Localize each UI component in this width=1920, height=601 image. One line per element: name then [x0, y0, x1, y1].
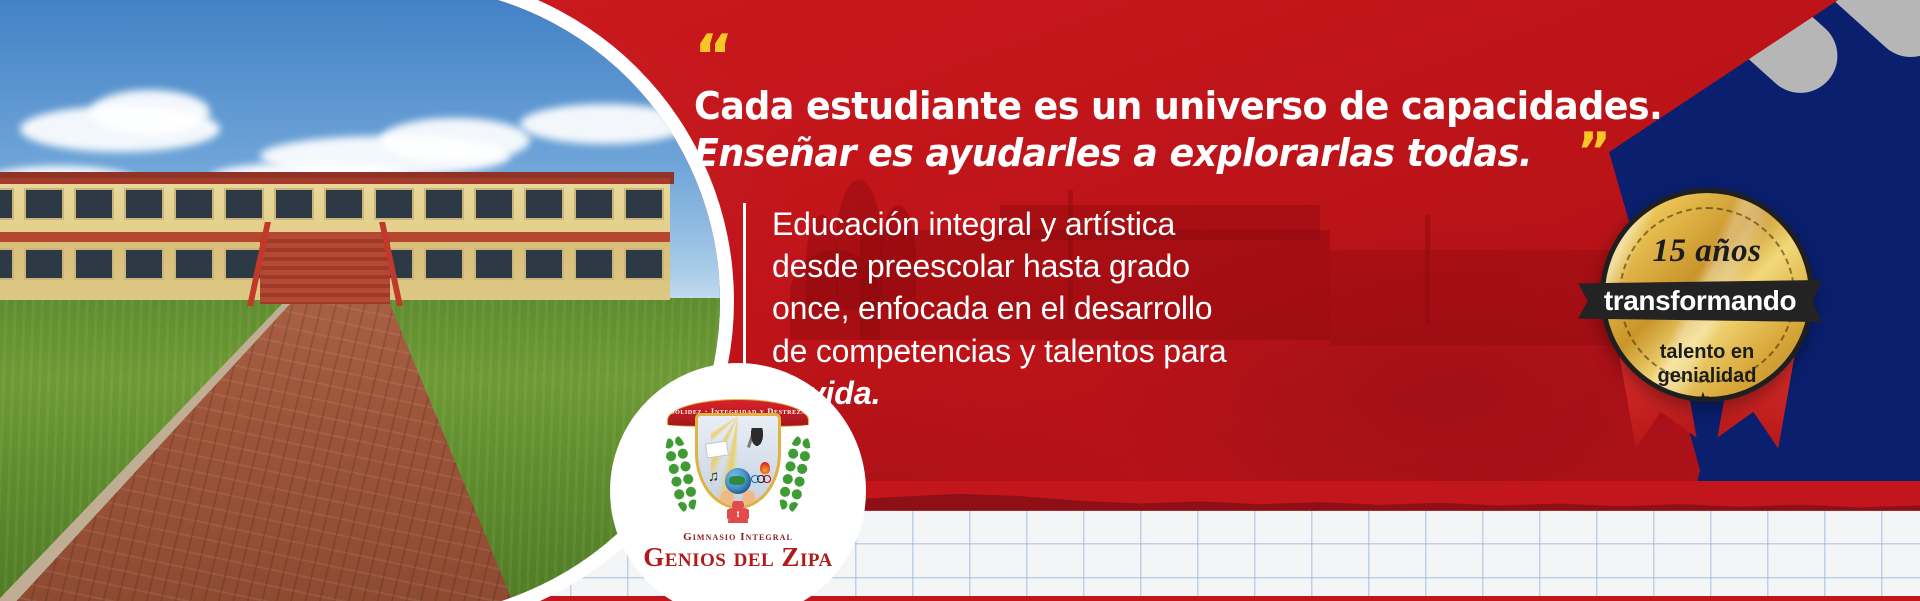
window	[324, 188, 364, 220]
anniversary-badge: 15 años talento en genialidad ★ ★ ★ tran…	[1592, 188, 1822, 418]
window-row-upper	[0, 188, 664, 220]
headline-quote: “ Cada estudiante es un universo de capa…	[694, 42, 1714, 176]
crest-tree-icon	[750, 428, 764, 448]
crest-shield: ♫	[695, 413, 781, 509]
cloud-shape	[90, 90, 210, 134]
crest-torch-icon	[760, 462, 770, 474]
badge-tagline: talento en genialidad	[1605, 341, 1809, 388]
window	[424, 188, 464, 220]
paragraph-line-2: desde preescolar hasta grado	[772, 245, 1227, 287]
badge-years-label: 15 años	[1605, 233, 1809, 270]
cloud-shape	[380, 118, 530, 162]
paragraph-line-3: once, enfocada en el desarrollo	[772, 287, 1227, 329]
window	[24, 188, 64, 220]
window	[374, 188, 414, 220]
window	[174, 188, 214, 220]
paragraph-line-1: Educación integral y artística	[772, 203, 1227, 245]
open-quote-icon: “	[694, 42, 1714, 84]
window	[474, 188, 514, 220]
cloud-shape	[520, 104, 690, 144]
window	[424, 248, 464, 280]
logo-name: Genios del Zipa	[643, 543, 833, 571]
crest-laurel-right-icon	[775, 433, 815, 514]
quote-line-1: Cada estudiante es un universo de capaci…	[694, 84, 1673, 129]
entrance-stairs	[260, 234, 390, 304]
quote-line-2: Enseñar es ayudarles a explorarlas todas…	[694, 131, 1532, 176]
school-logo: Solidez · Integridad y Destreza ♫ Gimnas…	[610, 363, 866, 601]
window	[124, 248, 164, 280]
ghost-pole-shape	[1425, 215, 1430, 325]
badge-tagline-line-2: genialidad	[1605, 365, 1809, 389]
crest-flower-icon	[727, 501, 749, 523]
crest-paper-icon	[705, 441, 729, 459]
window	[124, 188, 164, 220]
window	[624, 248, 664, 280]
window	[24, 248, 64, 280]
paragraph-line-5: la vida.	[772, 372, 1227, 414]
window	[174, 248, 214, 280]
window	[524, 248, 564, 280]
window	[74, 248, 114, 280]
description-paragraph: Educación integral y artística desde pre…	[743, 203, 1227, 414]
close-quote-icon: ”	[1577, 134, 1608, 171]
window	[574, 248, 614, 280]
badge-tagline-line-1: talento en	[1605, 341, 1809, 365]
badge-ribbon-label: transformando	[1604, 285, 1796, 317]
window	[624, 188, 664, 220]
window	[274, 188, 314, 220]
school-promo-banner: “ Cada estudiante es un universo de capa…	[0, 0, 1920, 601]
paragraph-line-4: de competencias y talentos para	[772, 330, 1227, 372]
window	[74, 188, 114, 220]
window	[0, 248, 14, 280]
badge-ribbon-banner: transformando	[1578, 280, 1822, 322]
window	[224, 188, 264, 220]
school-crest-icon: Solidez · Integridad y Destreza ♫	[663, 395, 813, 525]
ghost-building-shape	[1330, 250, 1630, 345]
window	[574, 188, 614, 220]
window	[524, 188, 564, 220]
window	[0, 188, 14, 220]
window	[474, 248, 514, 280]
